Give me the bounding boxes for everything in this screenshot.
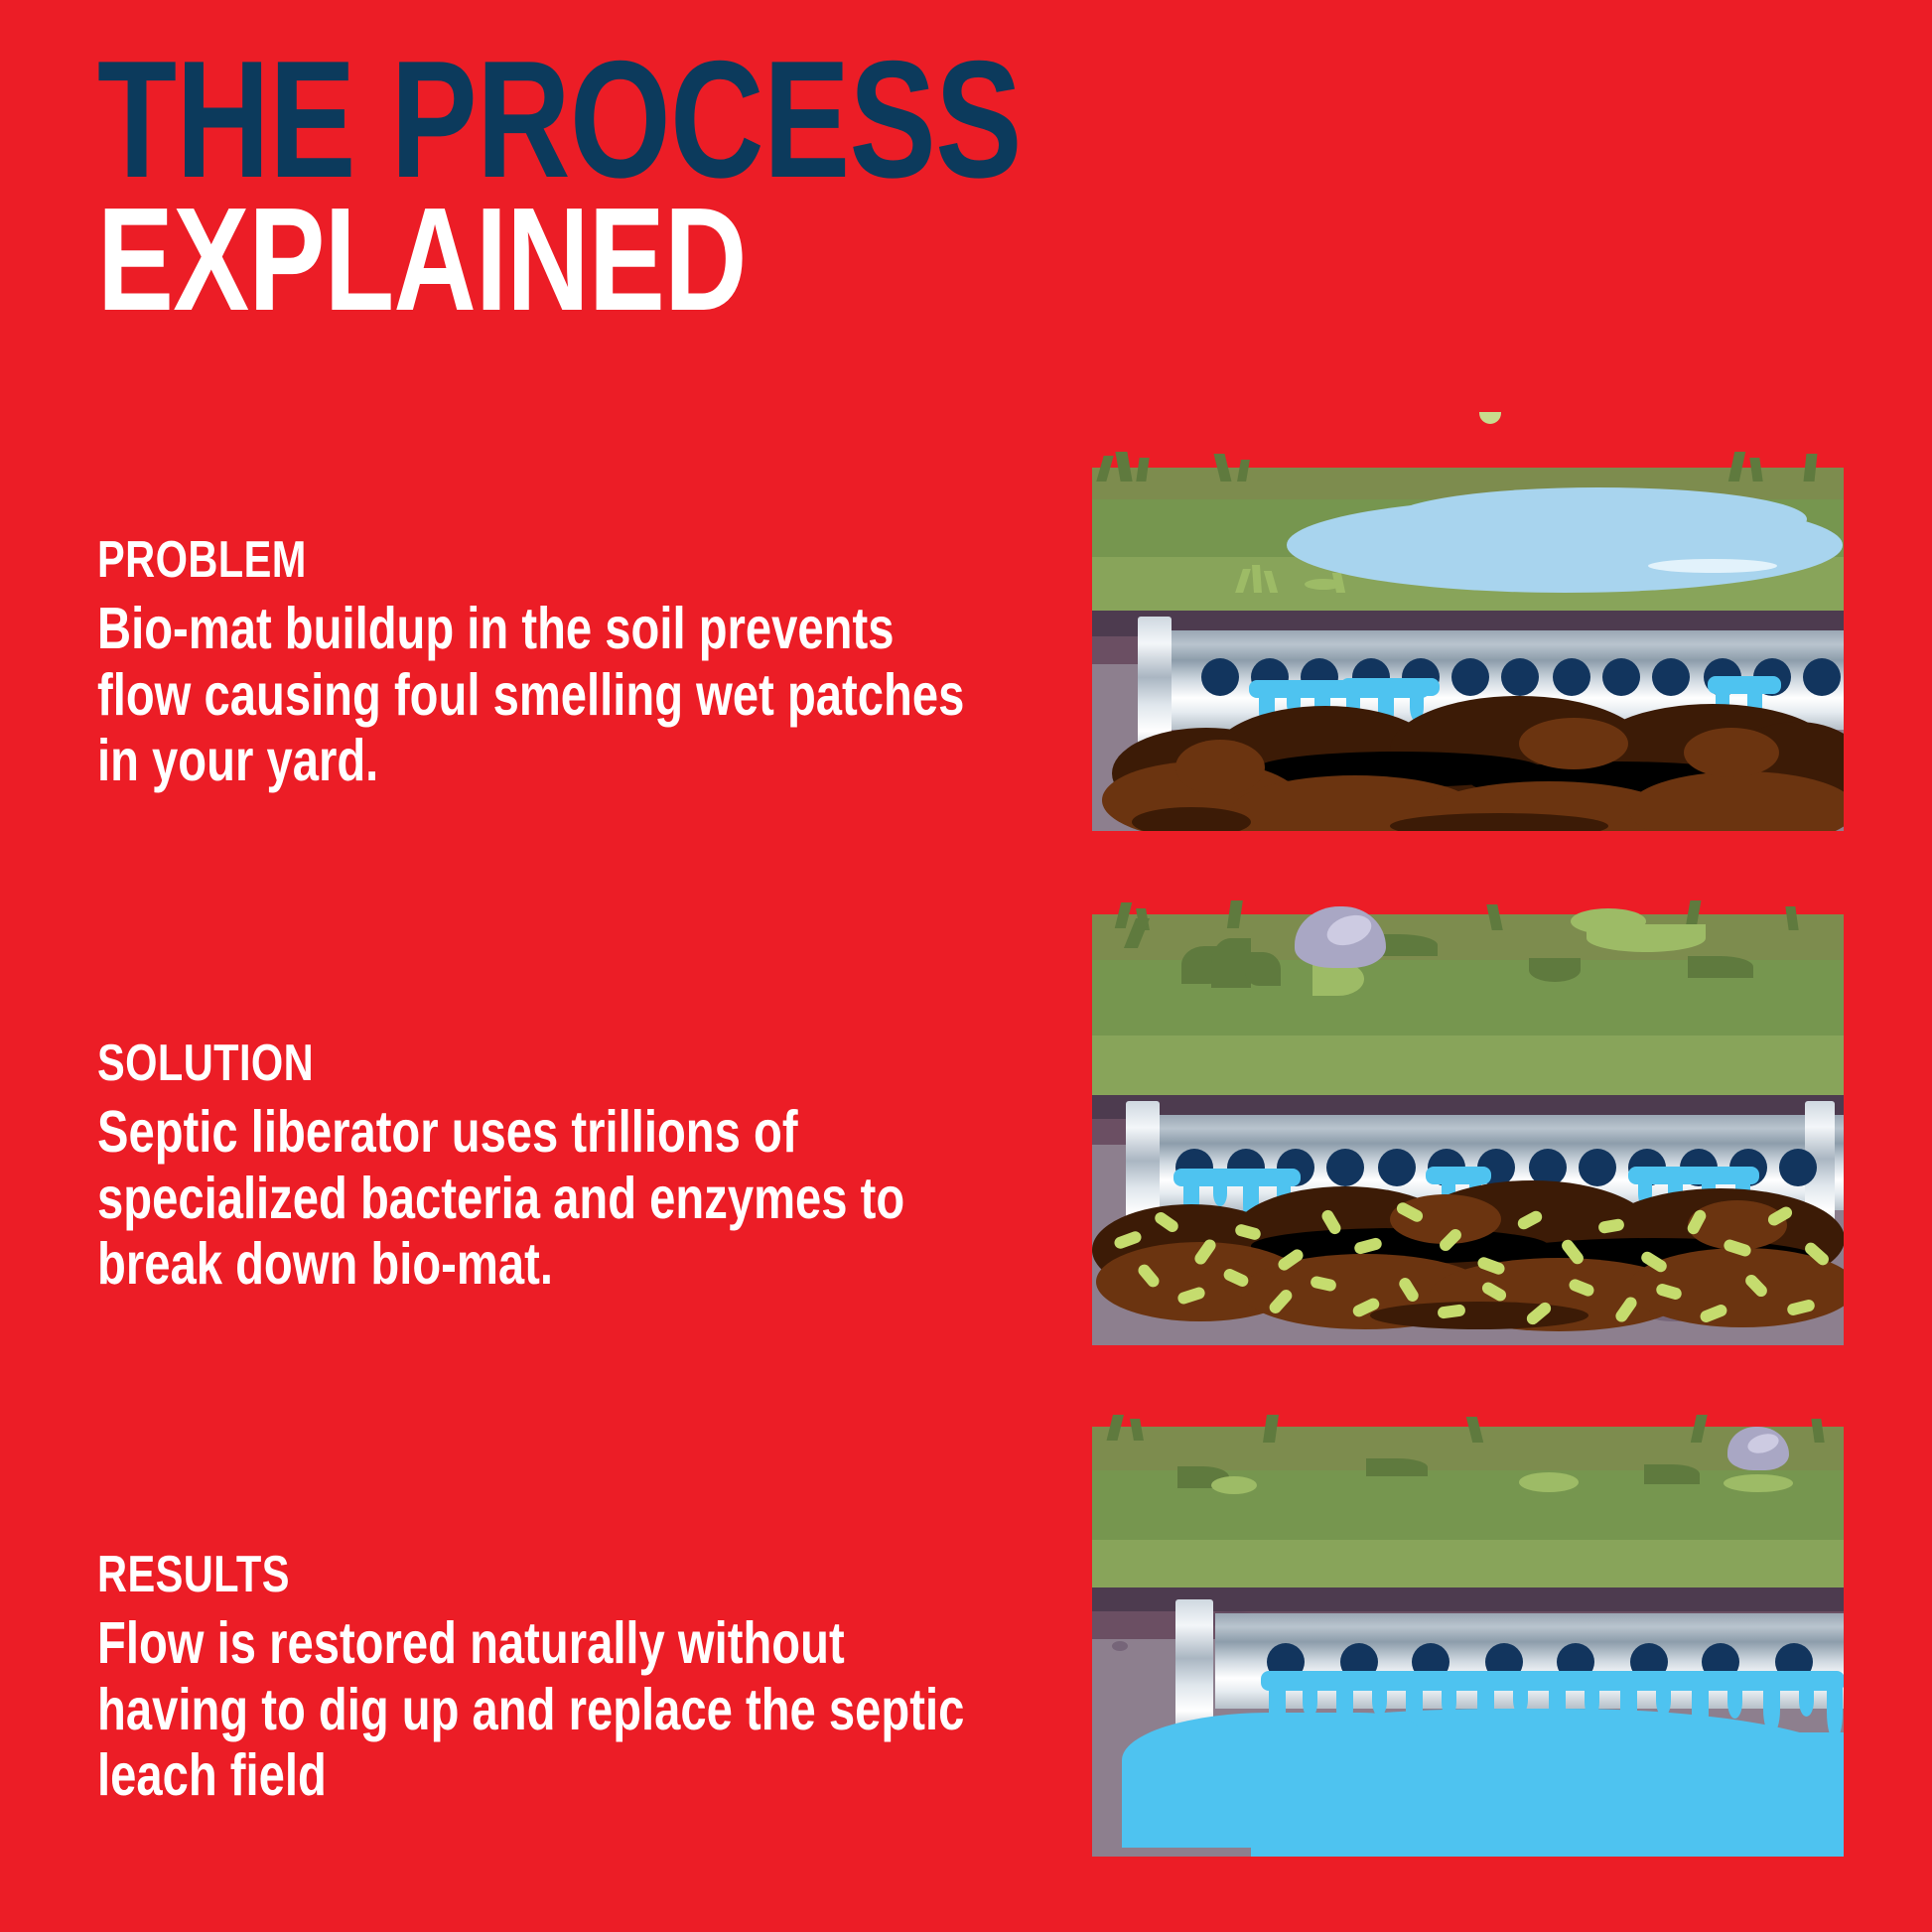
soil-pebble: [1112, 1641, 1128, 1651]
section-solution-body: Septic liberator uses trillions of speci…: [97, 1099, 987, 1298]
section-results: RESULTS Flow is restored naturally witho…: [97, 1549, 991, 1809]
section-results-body: Flow is restored naturally without havin…: [97, 1610, 987, 1809]
leach-pipe-endcap: [1175, 1599, 1213, 1730]
grass-bottom-layer: [1092, 1540, 1844, 1591]
title-line-primary: THE PROCESS: [97, 48, 872, 191]
title-line-secondary: EXPLAINED: [97, 197, 872, 323]
section-problem-heading: PROBLEM: [97, 534, 812, 586]
illustration-panel-solution: [1092, 900, 1844, 1345]
illustration-panel-results: [1092, 1415, 1844, 1857]
page-title: THE PROCESS EXPLAINED: [97, 48, 1090, 324]
section-solution: SOLUTION Septic liberator uses trillions…: [97, 1037, 991, 1298]
section-problem-body: Bio-mat buildup in the soil prevents flo…: [97, 596, 987, 794]
illustration-panel-problem: [1092, 412, 1844, 831]
section-results-heading: RESULTS: [97, 1549, 812, 1600]
grass-bottom-layer: [1092, 1035, 1844, 1099]
section-solution-heading: SOLUTION: [97, 1037, 812, 1089]
section-problem: PROBLEM Bio-mat buildup in the soil prev…: [97, 534, 991, 794]
